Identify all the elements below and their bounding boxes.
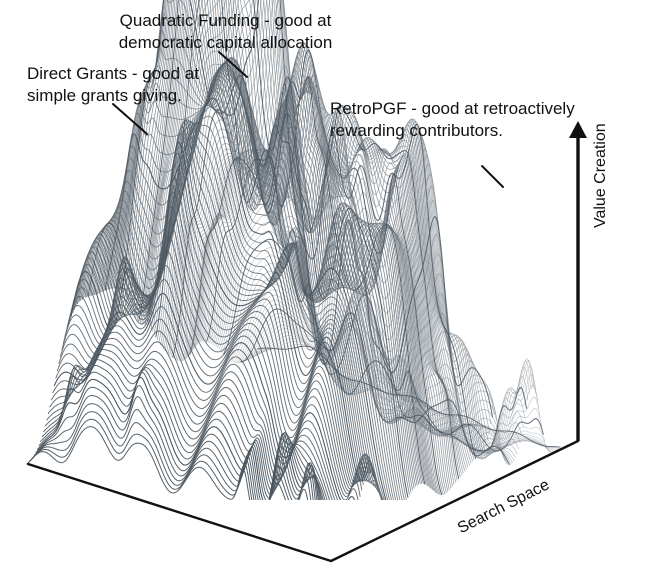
axis-label-value-creation: Value Creation [592, 123, 610, 228]
contour-line [48, 339, 351, 535]
leader-line-retropgf [482, 166, 503, 187]
contour-line [31, 412, 334, 562]
figure-canvas: Direct Grants - good at simple grants gi… [0, 0, 649, 565]
base-axis-left-line [28, 464, 331, 561]
annotation-direct-grants: Direct Grants - good at simple grants gi… [27, 63, 199, 107]
contour-line [230, 271, 533, 453]
annotation-quadratic-funding: Quadratic Funding - good at democratic c… [113, 10, 338, 54]
annotation-retropgf: RetroPGF - good at retroactively rewardi… [330, 98, 575, 142]
contour-line [40, 366, 343, 552]
